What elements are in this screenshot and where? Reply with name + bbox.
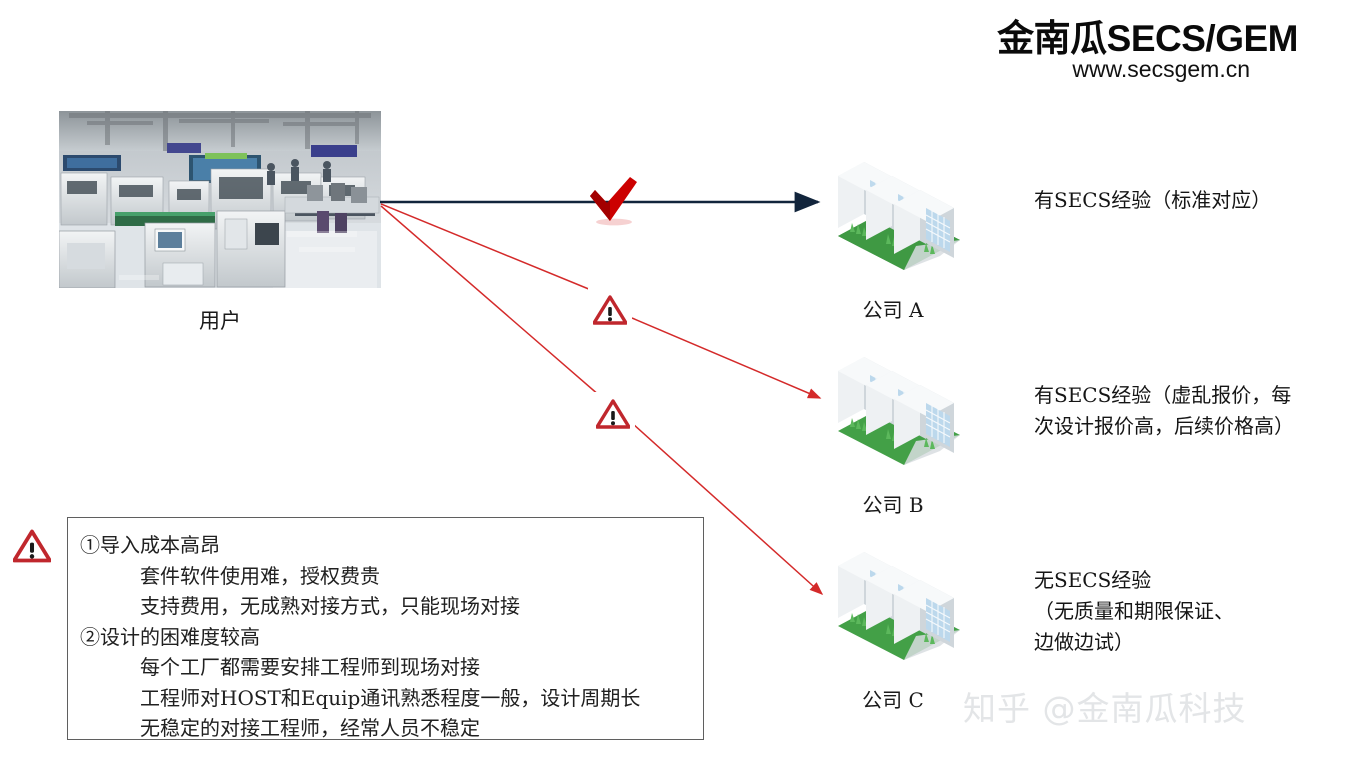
office-buildings-icon-company-b (820, 323, 966, 473)
warning-triangle-icon-company-c (591, 392, 635, 436)
brand-url: www.secsgem.cn (1072, 56, 1250, 83)
brand-title: 金南瓜SECS/GEM (997, 8, 1298, 62)
description-line: （无质量和期限保证、 (1034, 596, 1334, 627)
user-caption: 用户 (59, 305, 381, 335)
factory-photo (59, 111, 381, 288)
note-line: ①导入成本高昂 (80, 530, 693, 561)
note-line: 无稳定的对接工程师，经常人员不稳定 (80, 713, 693, 744)
company-description-a: 有SECS经验（标准对应） (1034, 185, 1339, 216)
office-buildings-icon-company-a (820, 128, 966, 278)
description-line: 次设计报价高，后续价格高） (1034, 411, 1334, 442)
warning-triangle-icon-note (8, 522, 56, 570)
company-description-b: 有SECS经验（虚乱报价，每 次设计报价高，后续价格高） (1034, 380, 1334, 442)
issues-note-box: ①导入成本高昂 套件软件使用难，授权费贵 支持费用，无成熟对接方式，只能现场对接… (67, 517, 704, 740)
factory-photo-image (59, 111, 381, 288)
company-description-c: 无SECS经验 （无质量和期限保证、 边做边试） (1034, 565, 1334, 658)
company-label-a: 公司 A (793, 294, 993, 323)
slide-canvas: 金南瓜SECS/GEM www.secsgem.cn (0, 0, 1350, 759)
description-line: 有SECS经验（标准对应） (1034, 185, 1339, 216)
company-label-b: 公司 B (793, 489, 993, 518)
red-check-icon (586, 176, 640, 228)
note-line: ②设计的困难度较高 (80, 622, 693, 653)
zhihu-watermark: 知乎 @金南瓜科技 (963, 682, 1247, 730)
office-buildings-icon-company-c (820, 518, 966, 668)
note-line: 工程师对HOST和Equip通讯熟悉程度一般，设计周期长 (80, 683, 693, 714)
arrow-to-company-b-seg1 (381, 204, 596, 292)
note-line: 每个工厂都需要安排工程师到现场对接 (80, 652, 693, 683)
description-line: 无SECS经验 (1034, 565, 1334, 596)
note-line: 套件软件使用难，授权费贵 (80, 561, 693, 592)
note-line: 支持费用，无成熟对接方式，只能现场对接 (80, 591, 693, 622)
warning-triangle-icon-company-b (588, 288, 632, 332)
description-line: 边做边试） (1034, 627, 1334, 658)
arrow-to-company-c-seg1 (381, 206, 600, 396)
description-line: 有SECS经验（虚乱报价，每 (1034, 380, 1334, 411)
arrow-to-company-b-seg2 (632, 318, 820, 398)
